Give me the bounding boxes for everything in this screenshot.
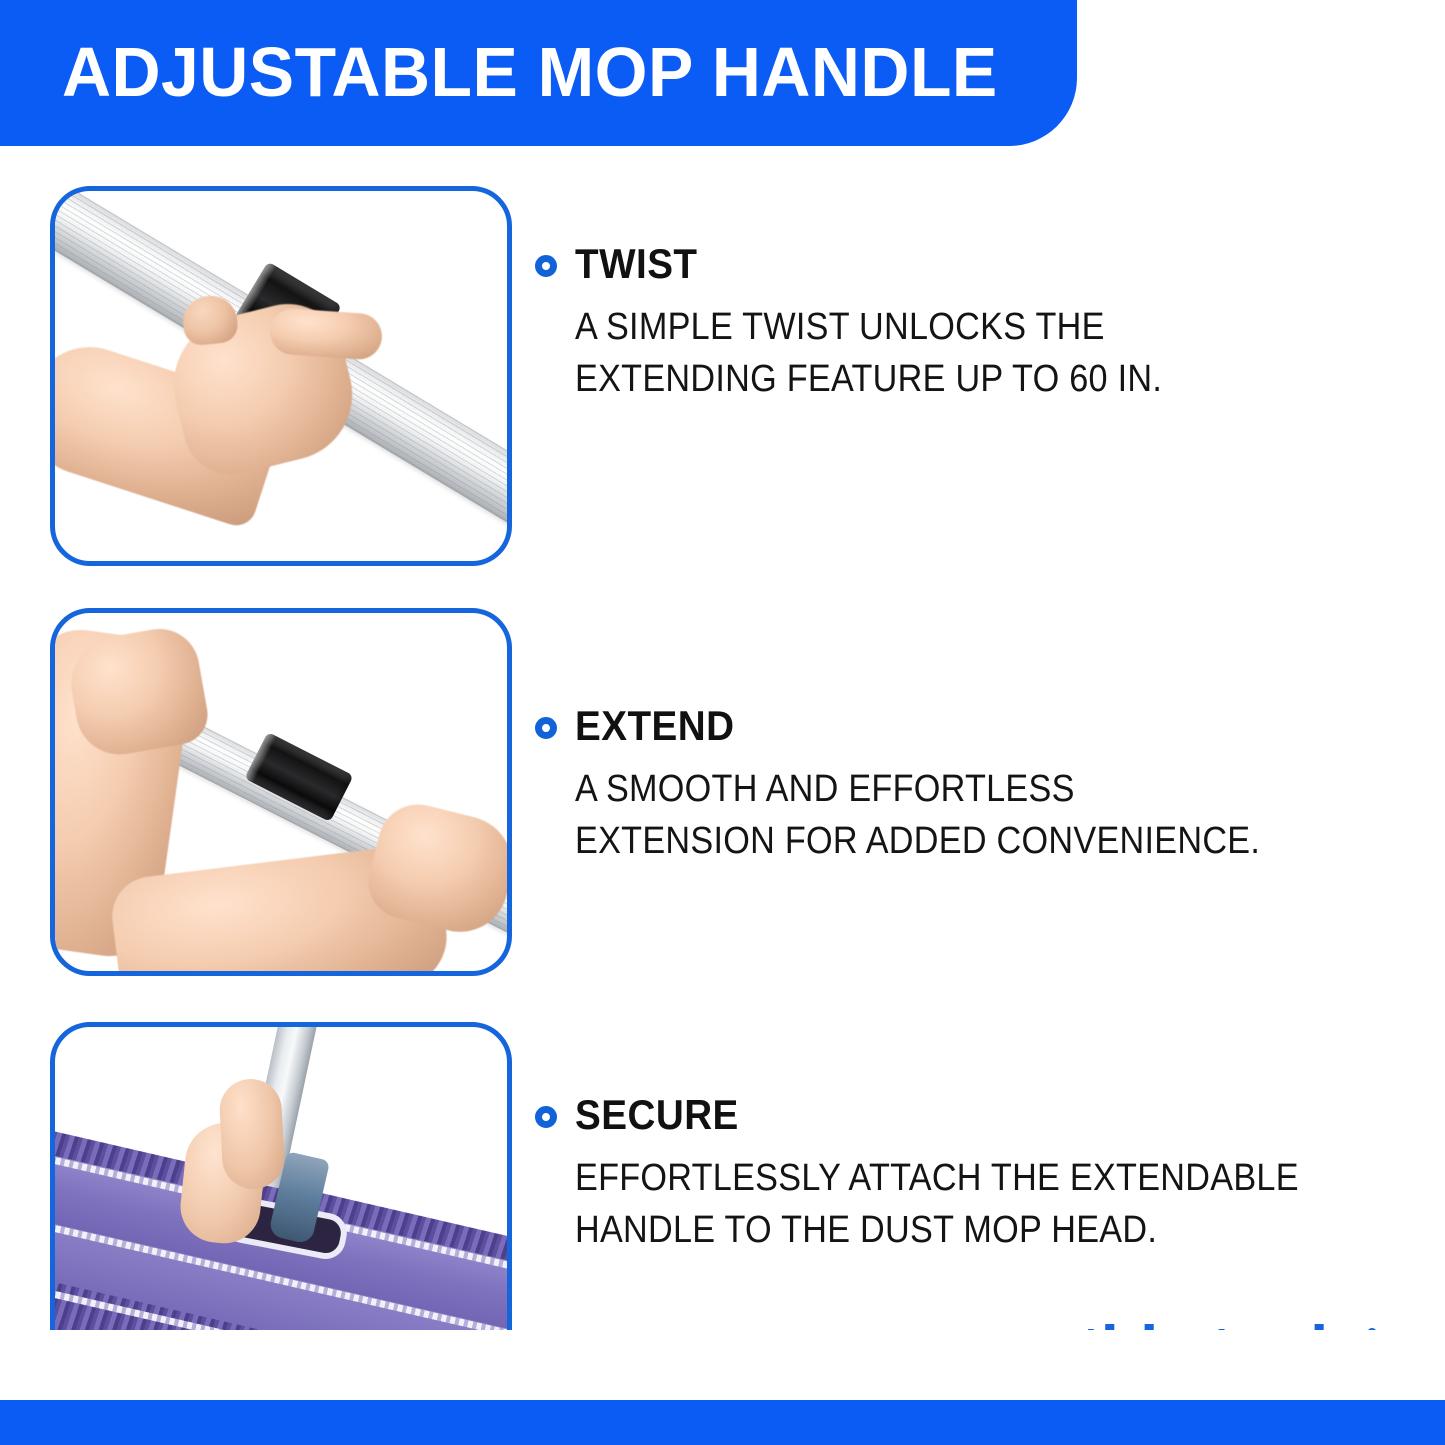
feature-heading: EXTEND [575,703,734,749]
feature-row-twist: TWIST A SIMPLE TWIST UNLOCKS THE EXTENDI… [0,186,1445,566]
footer-bar [0,1400,1445,1445]
feature-body-line-2: HANDLE TO THE DUST MOP HEAD. [575,1204,1358,1256]
footer-corner-mask [0,1330,1445,1400]
feature-heading: SECURE [575,1092,739,1138]
feature-body-line-1: A SIMPLE TWIST UNLOCKS THE [575,301,1358,353]
feature-body: A SIMPLE TWIST UNLOCKS THE EXTENDING FEA… [575,301,1358,405]
feature-text-extend: EXTEND A SMOOTH AND EFFORTLESS EXTENSION… [535,608,1445,867]
feature-body-line-2: EXTENDING FEATURE UP TO 60 IN. [575,353,1358,405]
feature-text-twist: TWIST A SIMPLE TWIST UNLOCKS THE EXTENDI… [535,186,1445,405]
feature-body-line-1: EFFORTLESSLY ATTACH THE EXTENDABLE [575,1152,1358,1204]
feature-body-line-2: EXTENSION FOR ADDED CONVENIENCE. [575,815,1358,867]
ring-bullet-icon [535,717,557,739]
feature-image-extend [50,608,512,976]
infographic-page: ADJUSTABLE MOP HANDLE TWIST A SIMPLE TWI… [0,0,1445,1445]
feature-body: A SMOOTH AND EFFORTLESS EXTENSION FOR AD… [575,763,1358,867]
feature-body: EFFORTLESSLY ATTACH THE EXTENDABLE HANDL… [575,1152,1358,1256]
feature-text-secure: SECURE EFFORTLESSLY ATTACH THE EXTENDABL… [535,1022,1445,1256]
thumb-shape [218,1077,286,1190]
ring-bullet-icon [535,1106,557,1128]
feature-heading-row: SECURE [535,1092,1445,1138]
feature-heading-row: EXTEND [535,703,1445,749]
feature-row-extend: EXTEND A SMOOTH AND EFFORTLESS EXTENSION… [0,608,1445,976]
feature-heading-row: TWIST [535,241,1445,287]
header-banner: ADJUSTABLE MOP HANDLE [0,0,1077,146]
page-title: ADJUSTABLE MOP HANDLE [62,31,998,113]
feature-image-twist [50,186,512,566]
ring-bullet-icon [535,255,557,277]
feature-heading: TWIST [575,241,697,287]
feature-body-line-1: A SMOOTH AND EFFORTLESS [575,763,1358,815]
thumb-shape [269,307,384,361]
